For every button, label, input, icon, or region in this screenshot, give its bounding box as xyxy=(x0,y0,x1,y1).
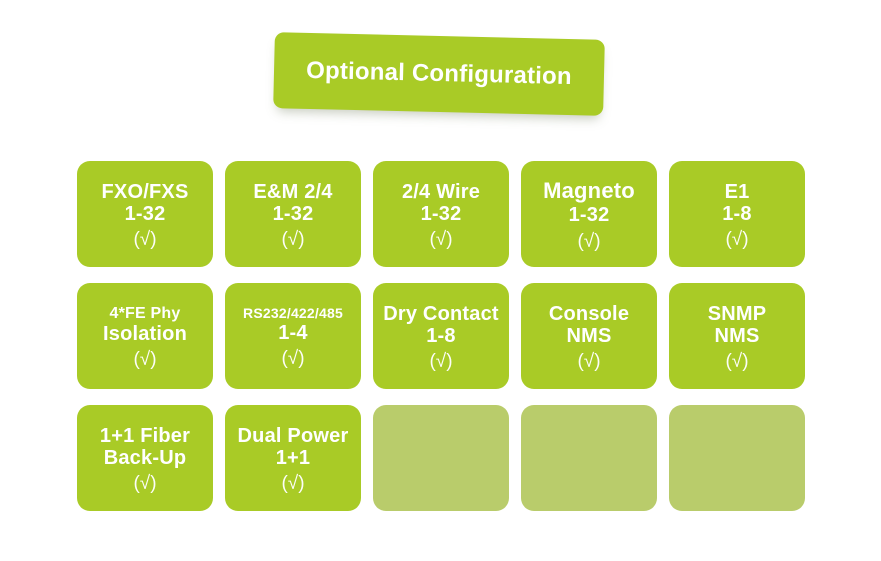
config-card-line: Back-Up xyxy=(104,447,187,469)
config-card-dual-power[interactable]: Dual Power1+1(√) xyxy=(225,405,361,511)
config-card-line: 1-32 xyxy=(569,204,610,226)
config-card-line: NMS xyxy=(714,325,759,347)
config-card-line: 1+1 xyxy=(276,447,311,469)
config-card-label: 2/4 Wire1-32 xyxy=(377,181,505,226)
config-card-fiber-backup[interactable]: 1+1 FiberBack-Up(√) xyxy=(77,405,213,511)
check-icon: (√) xyxy=(133,350,156,369)
config-card-line: RS232/422/485 xyxy=(243,306,343,322)
config-card-line: 1-4 xyxy=(278,322,308,344)
config-card-line: 1-8 xyxy=(426,325,456,347)
check-icon: (√) xyxy=(429,352,452,371)
config-card-label: ConsoleNMS xyxy=(525,303,653,348)
config-card-line: Magneto xyxy=(543,179,635,204)
config-card-line: NMS xyxy=(566,325,611,347)
config-card-rs232-422-485[interactable]: RS232/422/4851-4(√) xyxy=(225,283,361,389)
check-icon: (√) xyxy=(133,474,156,493)
config-card-line: Dual Power xyxy=(238,425,349,447)
config-card-label: Dry Contact1-8 xyxy=(377,303,505,348)
config-card-placeholder-2 xyxy=(521,405,657,511)
check-icon: (√) xyxy=(577,232,600,251)
config-card-label: Dual Power1+1 xyxy=(229,425,357,470)
config-card-label: SNMPNMS xyxy=(673,303,801,348)
config-card-2-4-wire[interactable]: 2/4 Wire1-32(√) xyxy=(373,161,509,267)
check-icon: (√) xyxy=(577,352,600,371)
page-title: Optional Configuration xyxy=(306,59,572,89)
config-card-line: 1-8 xyxy=(722,203,752,225)
config-card-line: 1-32 xyxy=(421,203,462,225)
config-card-line: 1-32 xyxy=(273,203,314,225)
config-card-line: Isolation xyxy=(103,323,187,345)
config-card-label: RS232/422/4851-4 xyxy=(229,306,357,344)
check-icon: (√) xyxy=(133,230,156,249)
config-card-e1[interactable]: E11-8(√) xyxy=(669,161,805,267)
config-card-placeholder-1 xyxy=(373,405,509,511)
config-card-label: E11-8 xyxy=(673,181,801,226)
check-icon: (√) xyxy=(725,352,748,371)
config-card-placeholder-3 xyxy=(669,405,805,511)
config-card-label: 1+1 FiberBack-Up xyxy=(81,425,209,470)
config-card-line: Dry Contact xyxy=(383,303,499,325)
check-icon: (√) xyxy=(281,349,304,368)
check-icon: (√) xyxy=(281,474,304,493)
config-card-line: SNMP xyxy=(708,303,767,325)
header-banner-container: Optional Configuration xyxy=(274,30,608,122)
config-card-line: 4*FE Phy xyxy=(110,305,181,323)
check-icon: (√) xyxy=(725,230,748,249)
config-card-line: E1 xyxy=(725,181,750,203)
config-card-line: FXO/FXS xyxy=(102,181,189,203)
config-card-line: 1+1 Fiber xyxy=(100,425,190,447)
config-card-label: 4*FE PhyIsolation xyxy=(81,305,209,345)
config-card-console-nms[interactable]: ConsoleNMS(√) xyxy=(521,283,657,389)
config-card-label: E&M 2/41-32 xyxy=(229,181,357,226)
config-card-line: Console xyxy=(549,303,629,325)
check-icon: (√) xyxy=(429,230,452,249)
config-card-em-2-4[interactable]: E&M 2/41-32(√) xyxy=(225,161,361,267)
config-card-label: FXO/FXS1-32 xyxy=(81,181,209,226)
config-card-snmp-nms[interactable]: SNMPNMS(√) xyxy=(669,283,805,389)
optional-configuration-grid: FXO/FXS1-32(√)E&M 2/41-32(√)2/4 Wire1-32… xyxy=(77,161,801,511)
header-banner: Optional Configuration xyxy=(273,32,605,116)
config-card-4fe-phy-isolation[interactable]: 4*FE PhyIsolation(√) xyxy=(77,283,213,389)
config-card-dry-contact[interactable]: Dry Contact1-8(√) xyxy=(373,283,509,389)
config-card-fxo-fxs[interactable]: FXO/FXS1-32(√) xyxy=(77,161,213,267)
config-card-label: Magneto1-32 xyxy=(525,179,653,226)
config-card-line: E&M 2/4 xyxy=(253,181,332,203)
config-card-line: 1-32 xyxy=(125,203,166,225)
config-card-line: 2/4 Wire xyxy=(402,181,480,203)
check-icon: (√) xyxy=(281,230,304,249)
config-card-magneto[interactable]: Magneto1-32(√) xyxy=(521,161,657,267)
